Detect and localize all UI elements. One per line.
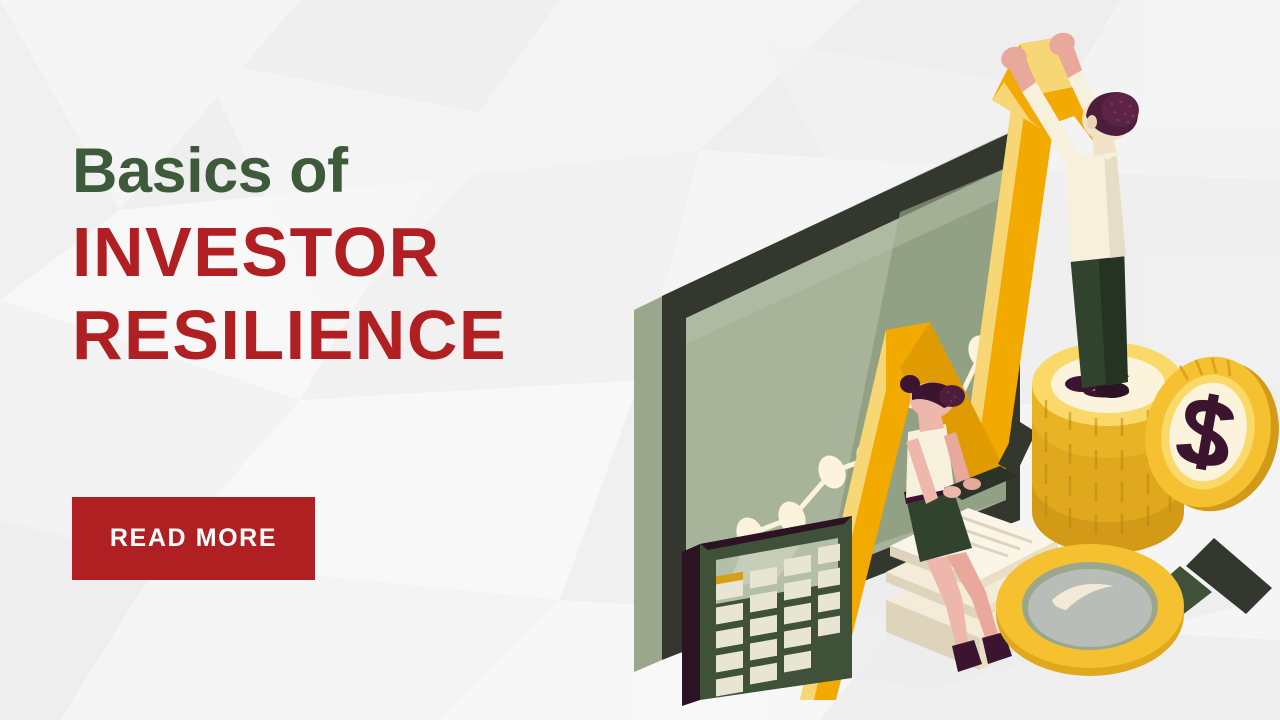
hair-bun	[900, 375, 920, 393]
read-more-label: READ MORE	[110, 524, 277, 553]
read-more-button[interactable]: READ MORE	[72, 497, 315, 580]
calculator	[682, 516, 852, 706]
promo-banner: Basics of INVESTOR RESILIENCE READ MORE	[0, 0, 1280, 720]
eyebrow-text: Basics of	[72, 140, 612, 203]
headline-line-2: RESILIENCE	[72, 300, 612, 371]
headline-block: Basics of INVESTOR RESILIENCE	[72, 140, 612, 372]
illustration-investment-growth	[600, 0, 1280, 720]
headline-line-1: INVESTOR	[72, 217, 612, 288]
